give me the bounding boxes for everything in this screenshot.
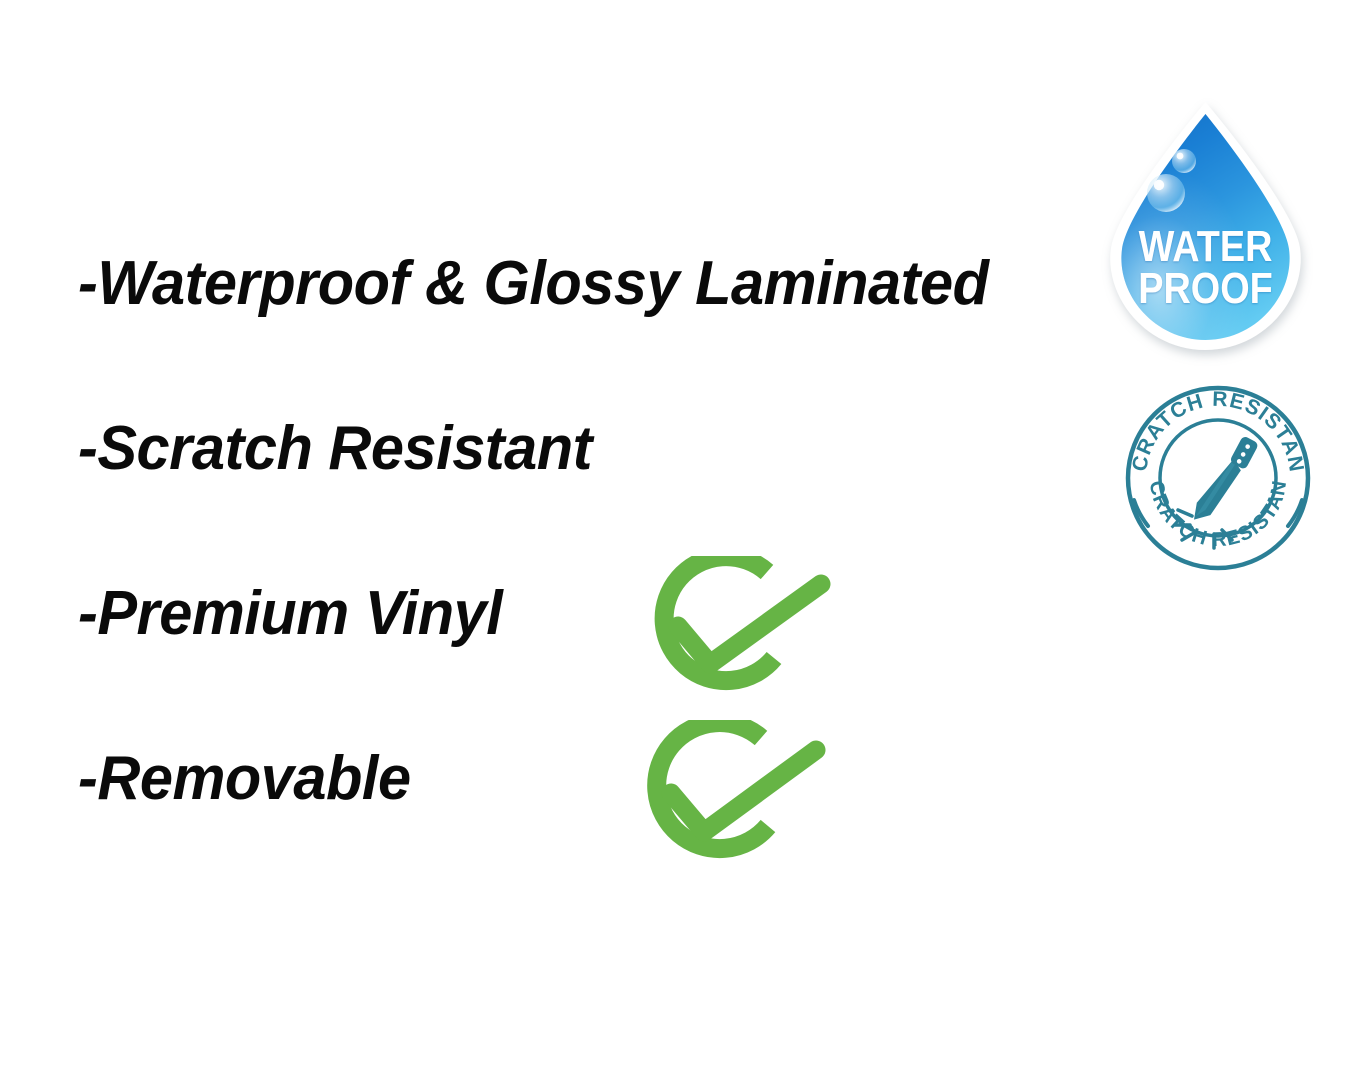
circle-check-icon xyxy=(638,556,836,712)
knife-icon xyxy=(1189,431,1260,529)
feature-list: -Waterproof & Glossy Laminated -Scratch … xyxy=(78,248,1108,908)
waterproof-droplet-badge: WATER PROOF xyxy=(1098,98,1313,366)
feature-label-scratch-resistant: -Scratch Resistant xyxy=(78,413,592,485)
check-mark-premium-vinyl xyxy=(638,556,836,712)
feature-label-premium-vinyl: -Premium Vinyl xyxy=(78,578,502,650)
list-item: -Waterproof & Glossy Laminated xyxy=(78,248,1108,413)
check-mark-removable xyxy=(630,720,828,880)
feature-label-waterproof: -Waterproof & Glossy Laminated xyxy=(78,248,989,320)
list-item: -Scratch Resistant xyxy=(78,413,1108,578)
feature-label-removable: -Removable xyxy=(78,743,411,815)
list-item: -Removable xyxy=(78,743,1108,908)
scratch-resistant-stamp: SCRATCH RESISTANT SCRATCH RESISTANT xyxy=(1122,382,1314,574)
list-item: -Premium Vinyl xyxy=(78,578,1108,743)
page-canvas: -Waterproof & Glossy Laminated -Scratch … xyxy=(0,0,1359,1080)
scratch-resistant-icon: SCRATCH RESISTANT SCRATCH RESISTANT xyxy=(1122,382,1314,574)
water-droplet-icon xyxy=(1098,98,1313,366)
bubble-small-icon xyxy=(1172,149,1196,173)
scratch-stamp-text-top: SCRATCH RESISTANT xyxy=(1122,382,1308,474)
bubble-large-icon xyxy=(1147,174,1185,212)
circle-check-icon xyxy=(630,720,828,880)
